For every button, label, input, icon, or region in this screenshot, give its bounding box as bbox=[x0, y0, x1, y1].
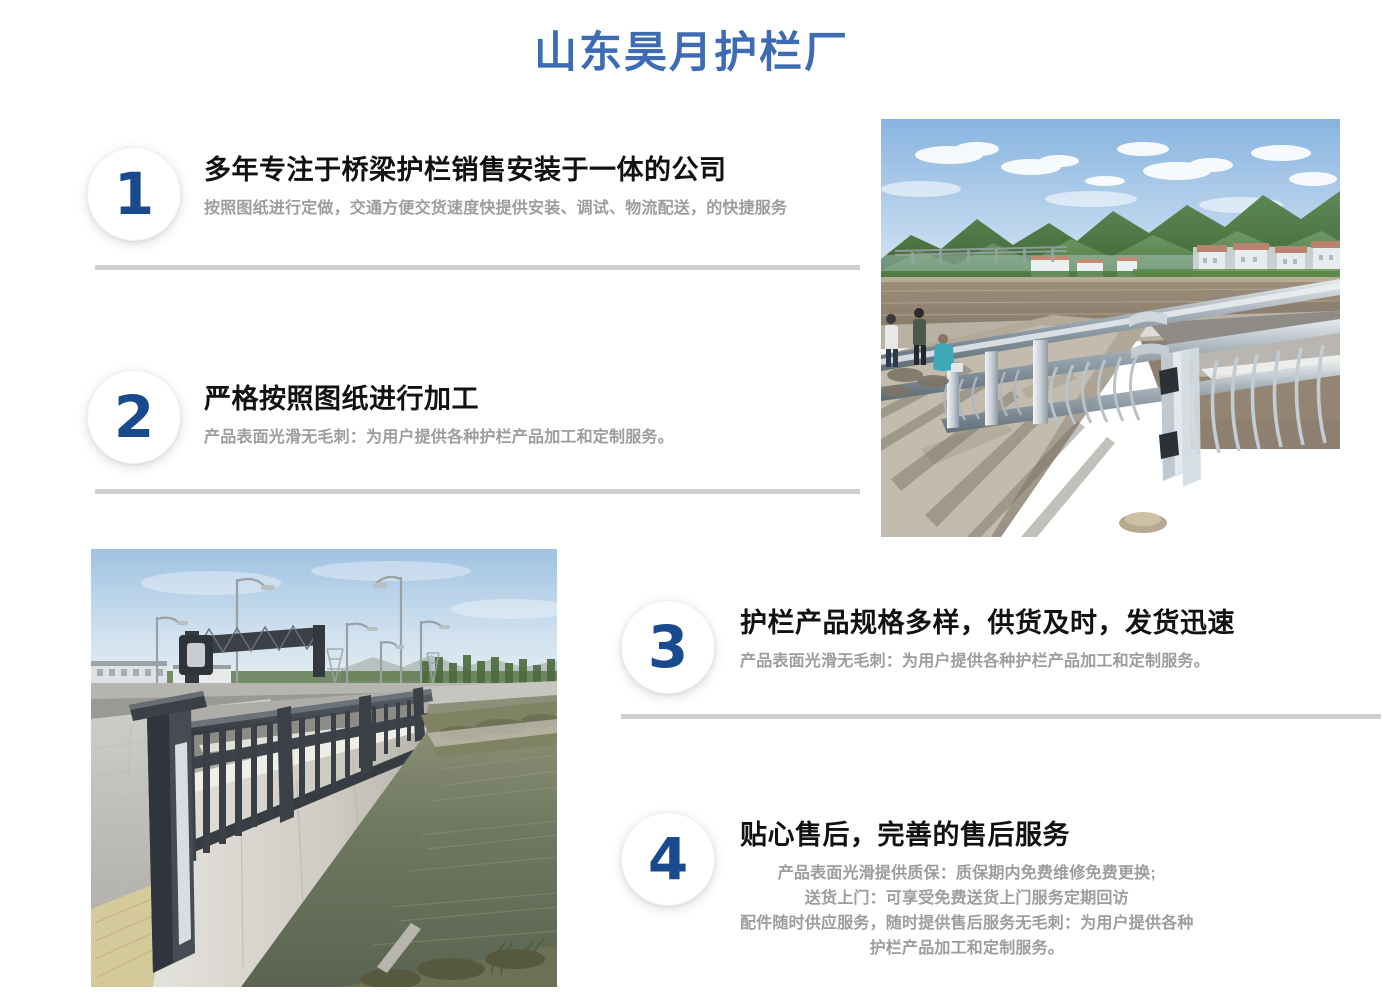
divider-after-feature-2 bbox=[95, 489, 860, 494]
feature-number-badge-1: 1 bbox=[88, 148, 180, 240]
feature-desc-line: 护栏产品加工和定制服务。 bbox=[740, 937, 1194, 960]
feature-desc-line: 送货上门：可享受免费送货上门服务定期回访 bbox=[740, 887, 1194, 910]
feature-heading-2: 严格按照图纸进行加工 bbox=[204, 383, 674, 417]
feature-block-3: 3 护栏产品规格多样，供货及时，发货迅速 产品表面光滑无毛刺：为用户提供各种护栏… bbox=[622, 601, 1235, 693]
feature-desc-line: 产品表面光滑无毛刺：为用户提供各种护栏产品加工和定制服务。 bbox=[740, 650, 1235, 673]
feature-heading-1: 多年专注于桥梁护栏销售安装于一体的公司 bbox=[204, 154, 787, 188]
feature-desc-line: 按照图纸进行定做，交通方便交货速度快提供安装、调试、物流配送，的快捷服务 bbox=[204, 197, 787, 220]
canal-railing-photo bbox=[91, 549, 557, 987]
feature-text-1: 多年专注于桥梁护栏销售安装于一体的公司 按照图纸进行定做，交通方便交货速度快提供… bbox=[204, 148, 787, 222]
feature-heading-3: 护栏产品规格多样，供货及时，发货迅速 bbox=[740, 607, 1235, 641]
feature-number-badge-3: 3 bbox=[622, 601, 714, 693]
feature-text-3: 护栏产品规格多样，供货及时，发货迅速 产品表面光滑无毛刺：为用户提供各种护栏产品… bbox=[740, 601, 1235, 675]
feature-desc-4: 产品表面光滑提供质保：质保期内免费维修免费更换; 送货上门：可享受免费送货上门服… bbox=[740, 862, 1194, 961]
feature-desc-1: 按照图纸进行定做，交通方便交货速度快提供安装、调试、物流配送，的快捷服务 bbox=[204, 197, 787, 220]
poster-page: 山东昊月护栏厂 1 多年专注于桥梁护栏销售安装于一体的公司 按照图纸进行定做，交… bbox=[0, 0, 1383, 1000]
feature-number-badge-2: 2 bbox=[88, 371, 180, 463]
divider-after-feature-1 bbox=[95, 265, 860, 270]
feature-heading-4: 贴心售后，完善的售后服务 bbox=[740, 819, 1194, 853]
feature-block-4: 4 贴心售后，完善的售后服务 产品表面光滑提供质保：质保期内免费维修免费更换; … bbox=[622, 813, 1194, 963]
page-title: 山东昊月护栏厂 bbox=[0, 28, 1383, 80]
feature-desc-line: 产品表面光滑无毛刺：为用户提供各种护栏产品加工和定制服务。 bbox=[204, 426, 674, 449]
feature-desc-2: 产品表面光滑无毛刺：为用户提供各种护栏产品加工和定制服务。 bbox=[204, 426, 674, 449]
feature-desc-line: 产品表面光滑提供质保：质保期内免费维修免费更换; bbox=[740, 862, 1194, 885]
feature-block-1: 1 多年专注于桥梁护栏销售安装于一体的公司 按照图纸进行定做，交通方便交货速度快… bbox=[88, 148, 787, 240]
bridge-guardrail-photo bbox=[881, 119, 1340, 537]
feature-desc-line: 配件随时供应服务，随时提供售后服务无毛刺：为用户提供各种 bbox=[740, 912, 1194, 935]
feature-text-2: 严格按照图纸进行加工 产品表面光滑无毛刺：为用户提供各种护栏产品加工和定制服务。 bbox=[204, 371, 674, 451]
feature-block-2: 2 严格按照图纸进行加工 产品表面光滑无毛刺：为用户提供各种护栏产品加工和定制服… bbox=[88, 371, 674, 463]
feature-desc-3: 产品表面光滑无毛刺：为用户提供各种护栏产品加工和定制服务。 bbox=[740, 650, 1235, 673]
divider-after-feature-3 bbox=[621, 714, 1381, 719]
feature-number-badge-4: 4 bbox=[622, 813, 714, 905]
feature-text-4: 贴心售后，完善的售后服务 产品表面光滑提供质保：质保期内免费维修免费更换; 送货… bbox=[740, 813, 1194, 963]
